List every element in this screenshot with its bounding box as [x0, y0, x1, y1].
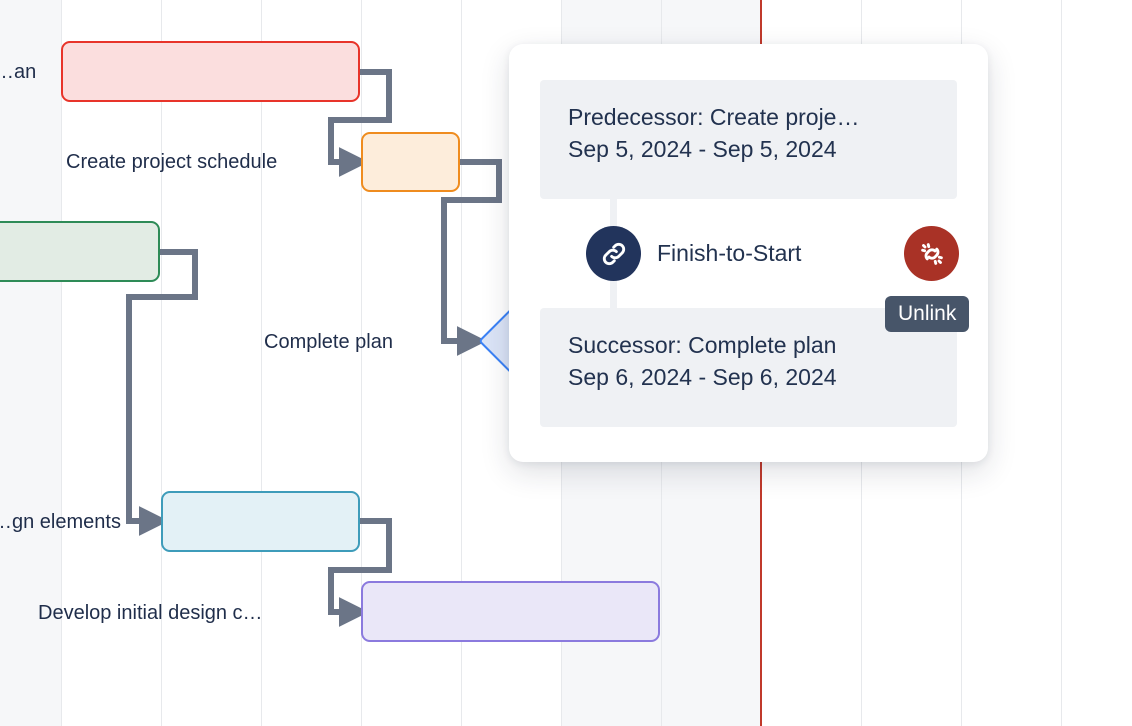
predecessor-dates: Sep 5, 2024 - Sep 5, 2024: [568, 134, 929, 166]
unlink-tooltip: Unlink: [885, 296, 969, 332]
task-label-develop-initial-design: Develop initial design c…: [38, 603, 263, 623]
predecessor-panel: Predecessor: Create proje… Sep 5, 2024 -…: [540, 80, 957, 199]
dependency-relationship-row: Finish-to-Start: [509, 199, 988, 308]
dependency-detail-card: Predecessor: Create proje… Sep 5, 2024 -…: [509, 44, 988, 462]
task-bar-develop-initial-design[interactable]: [361, 581, 660, 642]
task-bar-project-plan[interactable]: [61, 41, 360, 102]
task-bar-green[interactable]: [0, 221, 160, 282]
task-bar-design-elements[interactable]: [161, 491, 360, 552]
task-label-project-plan: …an: [0, 62, 36, 82]
predecessor-title: Predecessor: Create proje…: [568, 102, 929, 134]
successor-dates: Sep 6, 2024 - Sep 6, 2024: [568, 362, 929, 394]
successor-title: Successor: Complete plan: [568, 330, 929, 362]
unlink-icon[interactable]: [904, 226, 959, 281]
grid-line: [1061, 0, 1062, 726]
task-bar-create-project-schedule[interactable]: [361, 132, 460, 192]
dependency-type-label: Finish-to-Start: [657, 240, 801, 267]
gantt-chart-view: …an Create project schedule Complete pla…: [0, 0, 1132, 726]
link-icon: [586, 226, 641, 281]
task-label-create-project-schedule: Create project schedule: [66, 152, 277, 172]
connector-green-to-design: [129, 252, 195, 521]
task-label-design-elements: …gn elements: [0, 512, 121, 532]
task-label-complete-plan: Complete plan: [264, 332, 393, 352]
